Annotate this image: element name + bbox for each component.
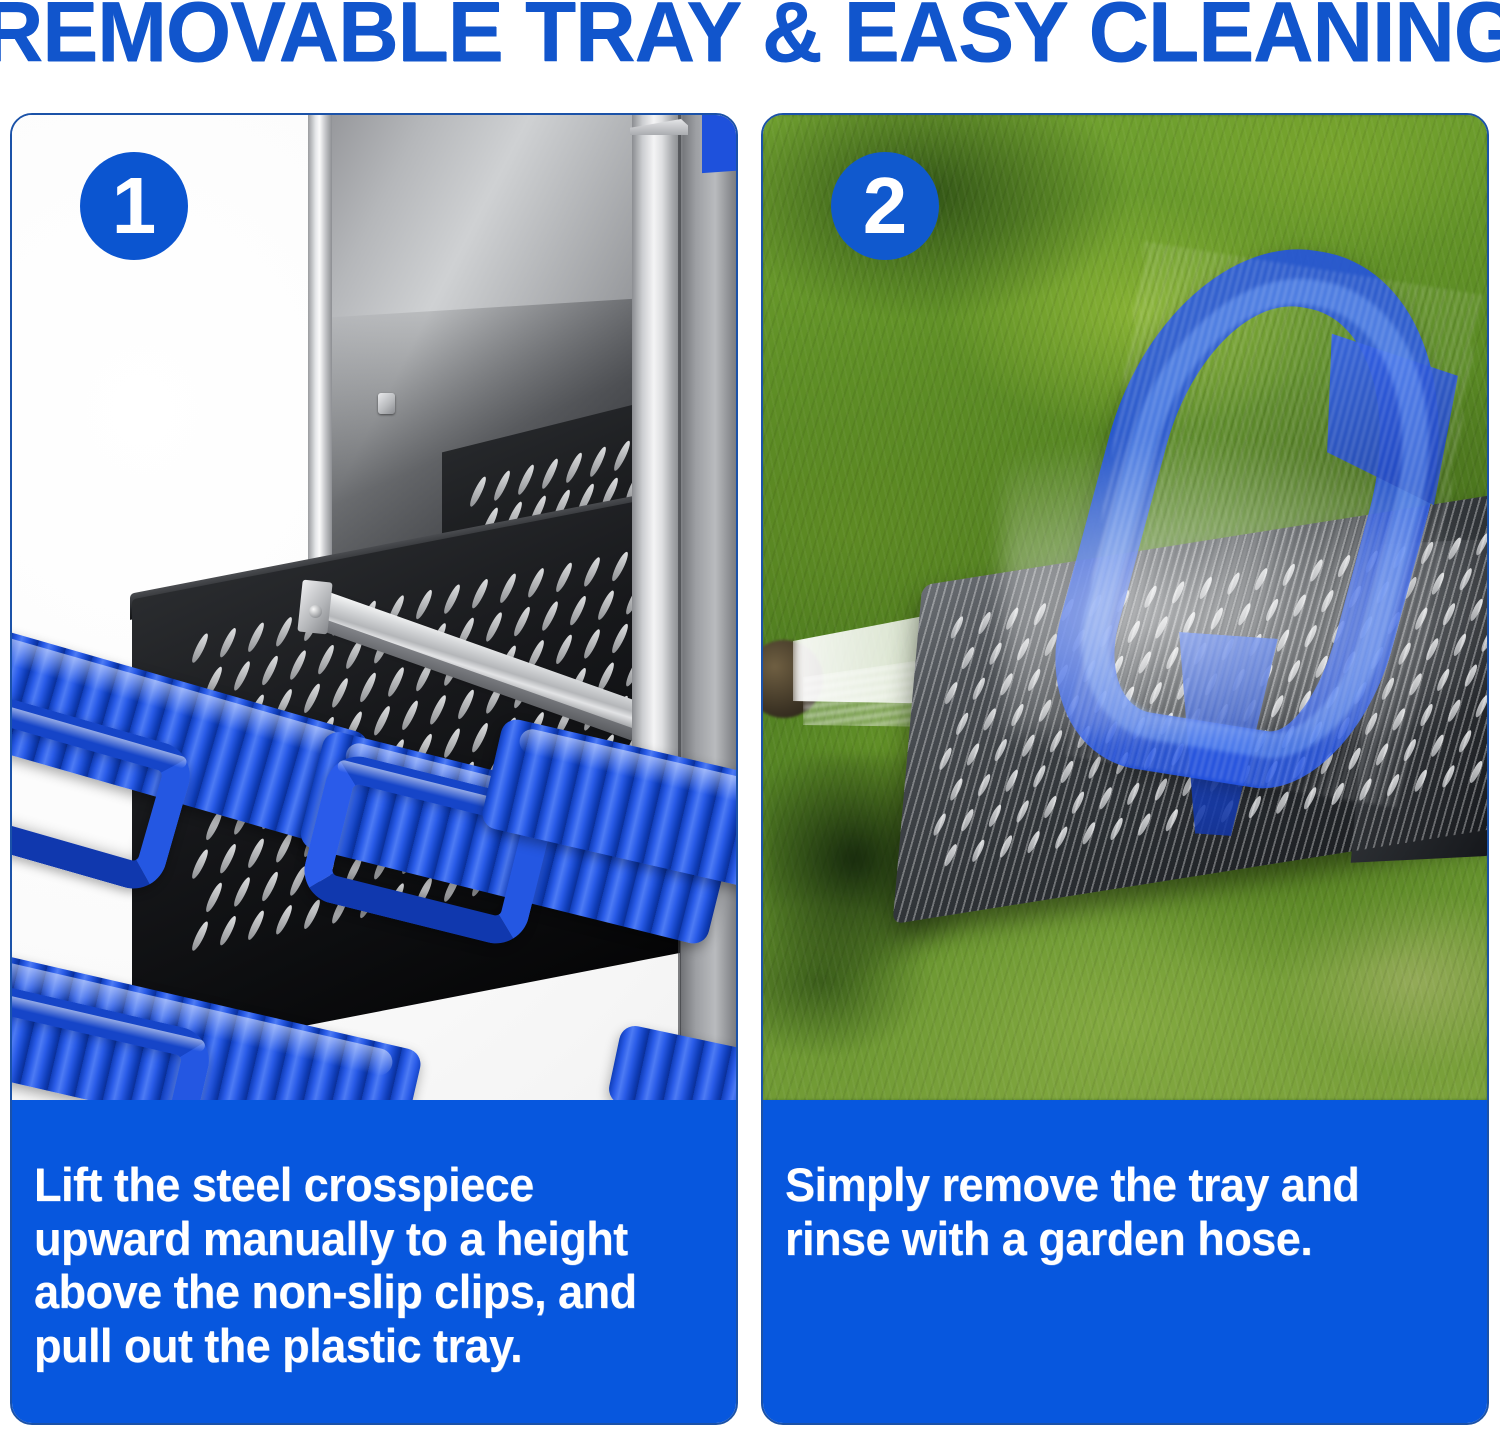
water-mist bbox=[1003, 435, 1487, 735]
page-title: REMOVABLE TRAY & EASY CLEANING bbox=[0, 0, 1500, 69]
step-badge-1: 1 bbox=[80, 152, 188, 260]
step-panel-1: 1 Lift the steel crosspiece upward manua… bbox=[10, 113, 738, 1425]
step-2-caption-band: Simply remove the tray and rinse with a … bbox=[763, 1100, 1487, 1423]
step-panel-2: 2 Simply remove the tray and rinse with … bbox=[761, 113, 1489, 1425]
steel-post-seam bbox=[678, 115, 681, 1100]
header-banner: REMOVABLE TRAY & EASY CLEANING bbox=[0, 0, 1500, 100]
steel-post-right-outer bbox=[680, 115, 736, 1100]
step-1-caption-band: Lift the steel crosspiece upward manuall… bbox=[12, 1100, 736, 1423]
step-1-photo: 1 bbox=[12, 115, 736, 1100]
blue-accent-top-right bbox=[702, 115, 736, 173]
step-1-caption-text: Lift the steel crosspiece upward manuall… bbox=[34, 1158, 685, 1372]
hex-bolt-icon bbox=[378, 393, 395, 414]
step-badge-2: 2 bbox=[831, 152, 939, 260]
crosspiece-screw-icon bbox=[309, 605, 322, 618]
step-2-caption-text: Simply remove the tray and rinse with a … bbox=[785, 1158, 1436, 1265]
step-2-photo: 2 bbox=[763, 115, 1487, 1100]
